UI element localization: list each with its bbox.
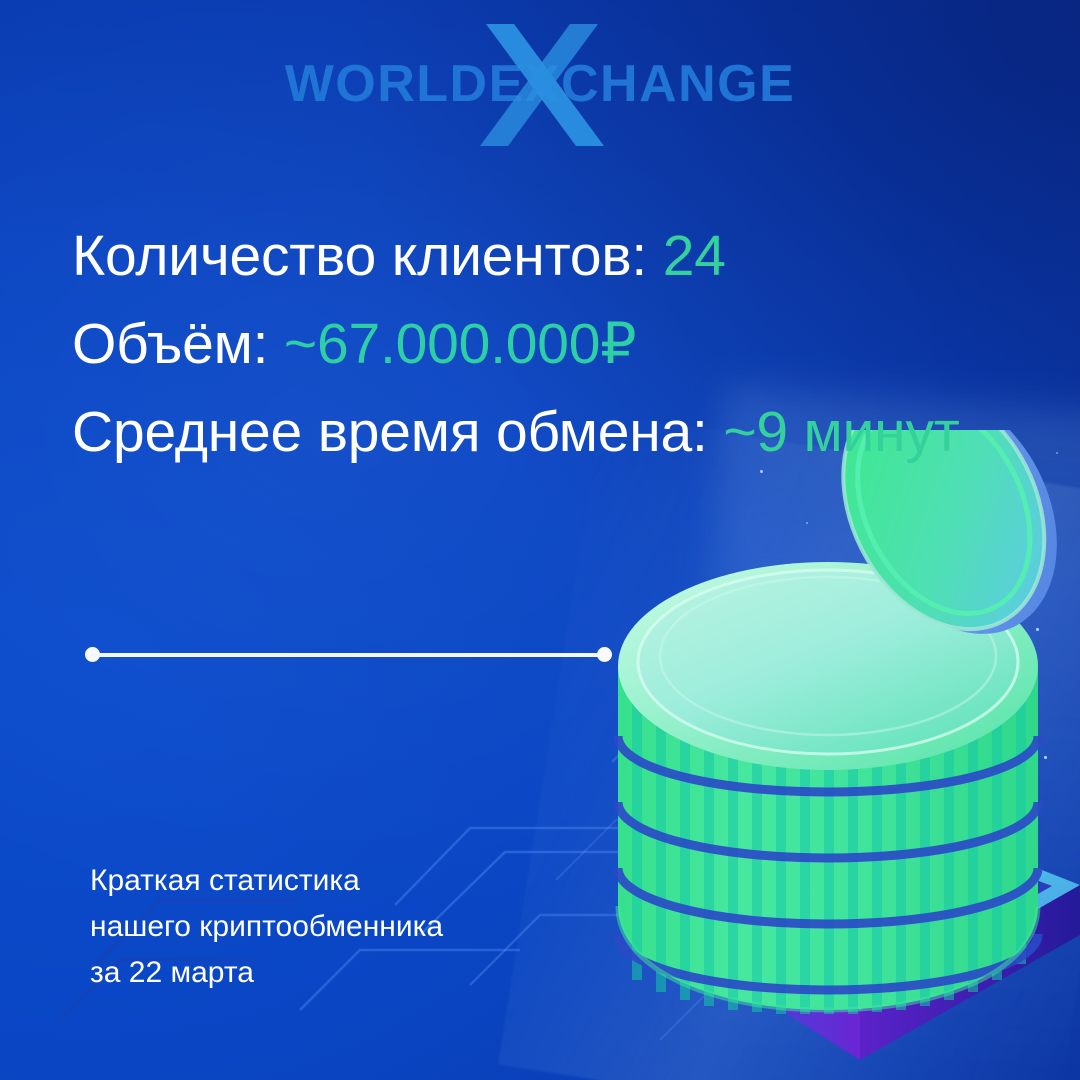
x-mark-icon [480, 24, 604, 146]
stat-row-clients-count: Количество клиентов: 24 [72, 212, 1052, 300]
caption-line-1: Краткая статистика [90, 858, 443, 904]
brand-logo[interactable]: WORLDEXCHANGE [0, 46, 1080, 122]
stat-label-clients-count: Количество клиентов: [72, 224, 647, 288]
divider-bar [91, 653, 606, 657]
decorative-divider [85, 647, 612, 662]
crypto-coins-illustration: . [560, 430, 1080, 1080]
divider-dot-right [597, 647, 612, 662]
caption-line-3: за 22 марта [90, 950, 443, 996]
stat-value-volume-amount: ~67.000.000₽ [284, 312, 636, 376]
stat-label-average-exchange-time: Среднее время обмена: [72, 400, 708, 464]
stat-row-volume-amount: Объём: ~67.000.000₽ [72, 300, 1052, 388]
statistics-block: Количество клиентов: 24 Объём: ~67.000.0… [72, 212, 1052, 476]
background-glow-beam [676, 386, 1080, 1080]
stat-value-average-exchange-time: ~9 минут [723, 400, 959, 464]
poster-canvas: . [0, 0, 1080, 1080]
stat-row-average-exchange-time: Среднее время обмена: ~9 минут [72, 388, 1052, 476]
stat-value-clients-count: 24 [663, 224, 726, 288]
caption-line-2: нашего криптообменника [90, 904, 443, 950]
stat-label-volume-amount: Объём: [72, 312, 268, 376]
background-spotlight-wedge [498, 412, 1080, 1080]
caption-block: Краткая статистика нашего криптообменник… [90, 858, 443, 996]
